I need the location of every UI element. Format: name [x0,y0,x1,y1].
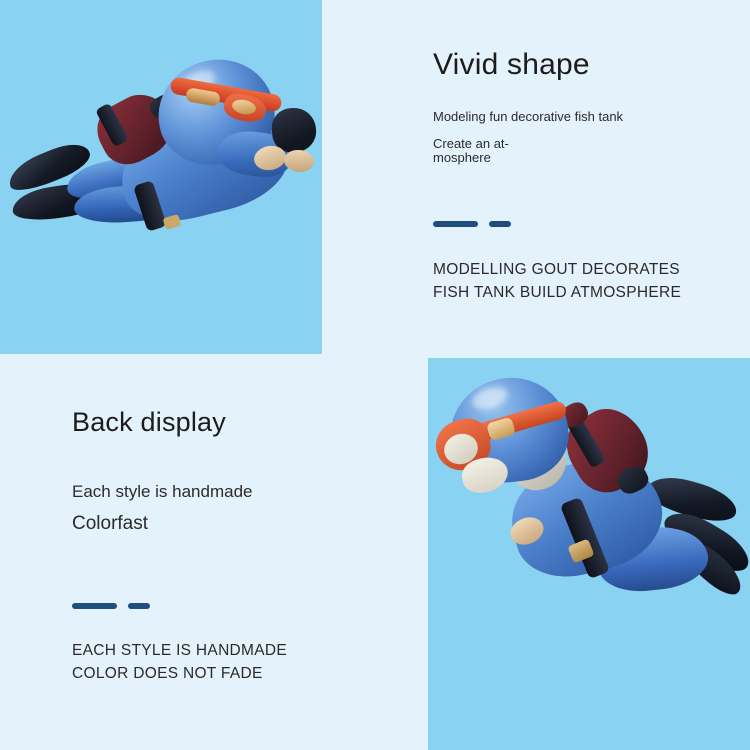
divider-dash-short-icon [128,603,150,609]
vivid-shape-subline-1: Modeling fun decorative fish tank [433,108,733,126]
diver-hand-far [283,148,315,173]
vivid-shape-caption: MODELLING GOUT DECORATES FISH TANK BUILD… [433,258,733,304]
back-display-caption-line-2: COLOR DOES NOT FADE [72,662,402,685]
product-feature-collage: Vivid shape Modeling fun decorative fish… [0,0,750,750]
vivid-shape-caption-line-1: MODELLING GOUT DECORATES [433,258,733,281]
divider-dash-short-icon [489,221,511,227]
feature-text-vivid-shape: Vivid shape Modeling fun decorative fish… [433,48,733,304]
diver-figurine-front-image [0,0,322,354]
divider-dash-long-icon [433,221,478,227]
diver-figurine-back-image [428,358,750,750]
back-display-divider [72,603,402,609]
product-photo-panel-bottom-right [428,358,750,750]
back-display-subline-2: Colorfast [72,512,402,536]
back-display-subline-1: Each style is handmade [72,481,402,503]
feature-text-back-display: Back display Each style is handmade Colo… [72,406,402,685]
product-photo-panel-top-left [0,0,322,354]
vivid-shape-heading: Vivid shape [433,48,733,82]
divider-dash-long-icon [72,603,117,609]
back-display-caption: EACH STYLE IS HANDMADE COLOR DOES NOT FA… [72,639,402,685]
back-display-heading: Back display [72,406,402,438]
vivid-shape-divider [433,221,733,227]
vivid-shape-caption-line-2: FISH TANK BUILD ATMOSPHERE [433,281,733,304]
diver-belt-buckle [163,214,182,230]
vivid-shape-subline-2: Create an at-mosphere [433,137,525,165]
back-display-caption-line-1: EACH STYLE IS HANDMADE [72,639,402,662]
